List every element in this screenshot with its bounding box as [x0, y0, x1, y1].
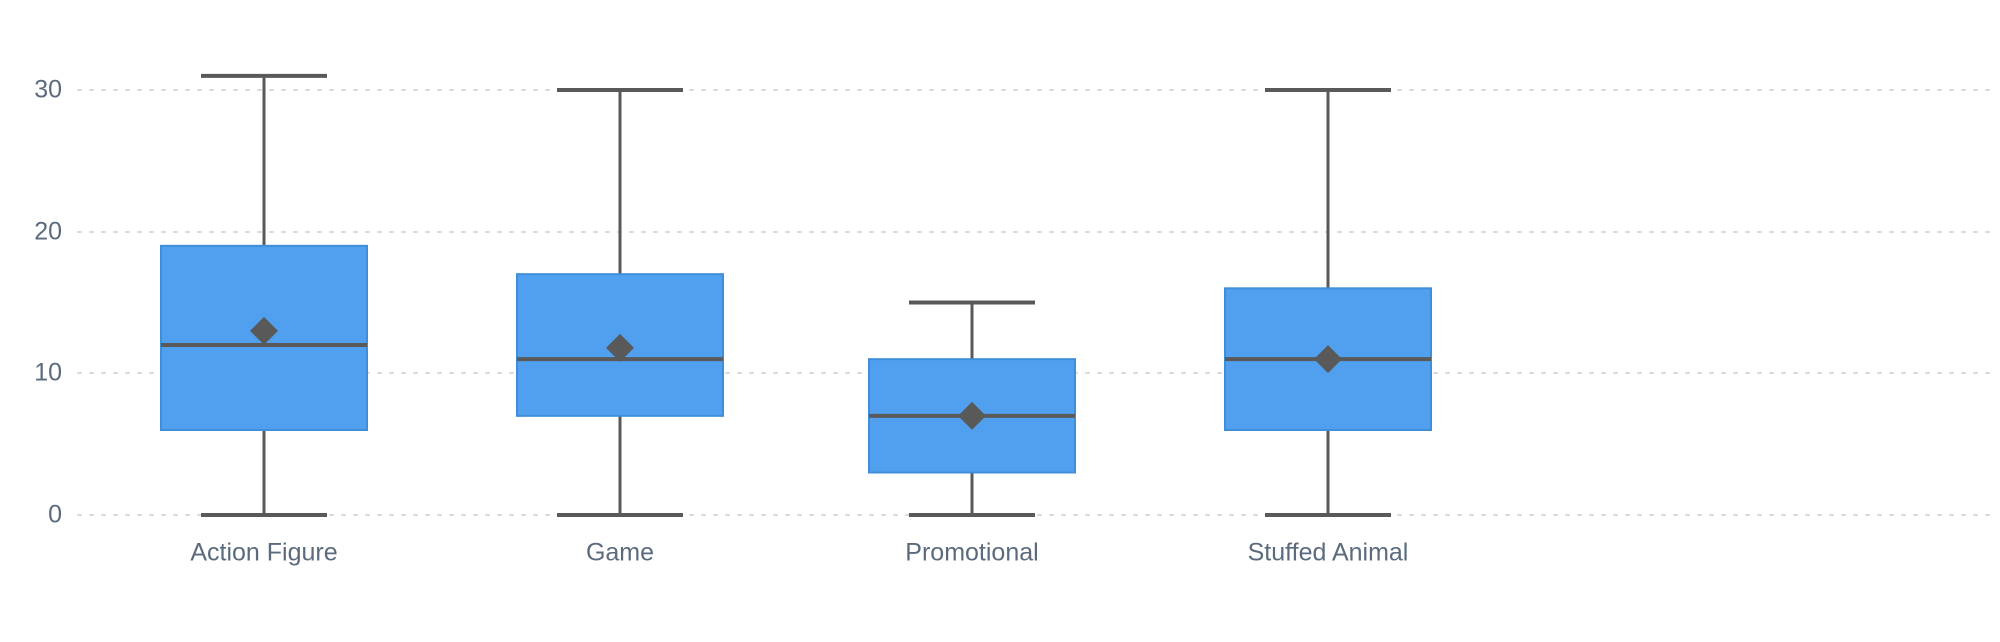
box-plot-game [517, 90, 723, 515]
x-tick-label-action-figure: Action Figure [190, 539, 337, 567]
x-tick-label-game: Game [586, 539, 654, 567]
y-axis-tick-labels: 30 20 10 0 [34, 76, 62, 529]
x-tick-label-promotional: Promotional [905, 539, 1038, 567]
x-axis-tick-labels: Action Figure Game Promotional Stuffed A… [190, 539, 1408, 567]
box-plot-stuffed-animal [1225, 90, 1431, 515]
y-tick-label-20: 20 [34, 218, 62, 246]
y-tick-label-30: 30 [34, 76, 62, 104]
x-tick-label-stuffed-animal: Stuffed Animal [1248, 539, 1409, 567]
box-plot-promotional [869, 303, 1075, 516]
box-plot-series-layer [161, 76, 1431, 515]
y-tick-label-0: 0 [48, 501, 62, 529]
plot-canvas: 30 20 10 0 Action Figure Game Promotiona… [0, 0, 2000, 642]
y-tick-label-10: 10 [34, 359, 62, 387]
box-plot-action-figure [161, 76, 367, 515]
box-plot-chart: 30 20 10 0 Action Figure Game Promotiona… [0, 0, 2000, 642]
